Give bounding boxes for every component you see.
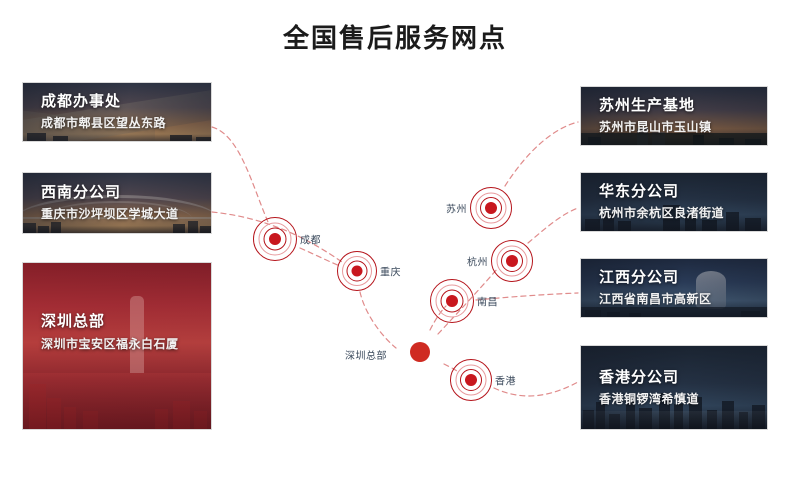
card-text: 深圳总部 深圳市宝安区福永白石厦	[41, 312, 179, 352]
card-title: 华东分公司	[599, 182, 724, 202]
map-marker-shenzhen-headquarters[interactable]	[389, 321, 451, 383]
marker-label: 杭州	[467, 254, 488, 269]
map-marker-suzhou[interactable]: 苏州	[470, 187, 512, 229]
marker-center-dot	[446, 295, 458, 307]
card-text: 成都办事处 成都市郫县区望丛东路	[41, 92, 166, 132]
card-address: 杭州市余杭区良渚街道	[599, 204, 724, 222]
marker-label: 香港	[495, 373, 516, 388]
card-text: 江西分公司 江西省南昌市高新区	[599, 268, 712, 308]
card-address: 江西省南昌市高新区	[599, 290, 712, 308]
card-text: 苏州生产基地 苏州市昆山市玉山镇	[599, 96, 712, 136]
marker-label: 苏州	[446, 201, 467, 216]
map-marker-chengdu[interactable]: 成都	[253, 217, 297, 261]
card-title: 成都办事处	[41, 92, 166, 112]
marker-label: 南昌	[477, 294, 498, 309]
slide-canvas: 全国售后服务网点	[0, 0, 790, 492]
marker-label: 重庆	[380, 264, 401, 279]
card-address: 重庆市沙坪坝区学城大道	[41, 205, 179, 223]
card-title: 深圳总部	[41, 312, 179, 332]
connector-chengdu	[212, 127, 268, 222]
card-title: 香港分公司	[599, 367, 699, 387]
card-title: 苏州生产基地	[599, 96, 712, 116]
hq-label: 深圳总部	[345, 347, 387, 362]
card-text: 华东分公司 杭州市余杭区良渚街道	[599, 182, 724, 222]
marker-center-dot	[465, 374, 477, 386]
connector-hangzhou	[528, 208, 578, 243]
marker-center-dot	[506, 255, 518, 267]
card-title: 江西分公司	[599, 268, 712, 288]
card-title: 西南分公司	[41, 183, 179, 203]
connector-lines	[0, 0, 790, 492]
marker-center-dot	[352, 266, 363, 277]
card-address: 苏州市昆山市玉山镇	[599, 118, 712, 136]
connector-suzhou	[505, 122, 578, 186]
marker-center-dot	[485, 202, 497, 214]
card-address: 香港铜锣湾希慎道	[599, 390, 699, 408]
map-marker-nanchang[interactable]: 南昌	[430, 279, 474, 323]
marker-center-dot	[269, 233, 281, 245]
card-address: 成都市郫县区望丛东路	[41, 114, 166, 132]
card-text: 西南分公司 重庆市沙坪坝区学城大道	[41, 183, 179, 223]
hq-center-dot	[410, 342, 430, 362]
map-marker-hangzhou[interactable]: 杭州	[491, 240, 533, 282]
card-address: 深圳市宝安区福永白石厦	[41, 335, 179, 353]
map-marker-hongkong[interactable]: 香港	[450, 359, 492, 401]
map-marker-chongqing[interactable]: 重庆	[337, 251, 377, 291]
card-text: 香港分公司 香港铜锣湾希慎道	[599, 367, 699, 407]
marker-label: 成都	[300, 232, 321, 247]
